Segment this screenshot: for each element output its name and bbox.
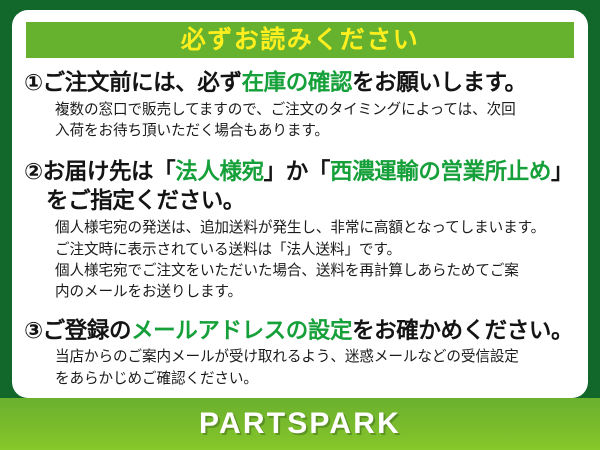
brand-footer: PARTSPARK xyxy=(0,398,600,450)
spacer-2 xyxy=(24,306,578,316)
notice-item-1-subline-2: 入荷をお待ち頂いただく場合もあります。 xyxy=(55,121,578,142)
notice-item-1-head-post: をお願いします。 xyxy=(352,70,527,95)
notice-item-2-head-accent-2: 西濃運輸の営業所止め xyxy=(330,159,551,184)
notice-item-1-head-pre: ご注文前には、必ず xyxy=(43,70,242,95)
notice-panel: 必ずお読みください ①ご注文前には、必ず在庫の確認をお願いします。 複数の窓口で… xyxy=(12,10,588,398)
notice-item-2-head-pre: お届け先は「 xyxy=(43,159,176,184)
notice-item-3-subtext: 当店からのご案内メールが受け取れるよう、迷惑メールなどの受信設定 をあらかじめご… xyxy=(24,345,578,390)
notice-item-1-head-accent: 在庫の確認 xyxy=(242,70,353,95)
notice-item-2-head-accent: 法人様宛 xyxy=(175,159,263,184)
notice-item-3-head-post: をお確かめください。 xyxy=(352,318,573,343)
notice-item-1: ①ご注文前には、必ず在庫の確認をお願いします。 複数の窓口で販売してますので、ご… xyxy=(24,68,578,143)
notice-item-2-head-mid: 」か「 xyxy=(264,159,330,184)
notice-items: ①ご注文前には、必ず在庫の確認をお願いします。 複数の窓口で販売してますので、ご… xyxy=(12,68,588,392)
notice-item-3: ③ご登録のメールアドレスの設定をお確かめください。 当店からのご案内メールが受け… xyxy=(24,316,578,391)
notice-item-2-subtext: 個人様宅宛の発送は、追加送料が発生し、非常に高額となってしまいます。 ご注文時に… xyxy=(24,216,578,303)
notice-title: 必ずお読みください xyxy=(181,28,420,53)
notice-item-1-marker: ① xyxy=(24,70,43,95)
notice-item-2-subline-1: 個人様宅宛の発送は、追加送料が発生し、非常に高額となってしまいます。 xyxy=(55,218,578,239)
notice-header-bar: 必ずお読みください xyxy=(26,22,574,58)
notice-item-2-subline-3: 個人様宅宛でご注文をいただいた場合、送料を再計算しあらためてご案 xyxy=(55,261,578,282)
notice-item-2-heading: ②お届け先は「法人様宛」か「西濃運輸の営業所止め」をご指定ください。 xyxy=(24,157,578,217)
notice-item-2-head-post: 」 xyxy=(551,159,573,184)
notice-item-3-subline-2: をあらかじめご確認ください。 xyxy=(55,369,578,390)
notice-item-1-subline-1: 複数の窓口で販売してますので、ご注文のタイミングによっては、次回 xyxy=(55,100,578,121)
notice-item-2-head-line2: をご指定ください。 xyxy=(24,186,578,216)
notice-item-3-head-accent: メールアドレスの設定 xyxy=(131,318,352,343)
notice-item-3-subline-1: 当店からのご案内メールが受け取れるよう、迷惑メールなどの受信設定 xyxy=(55,347,578,368)
spacer-1 xyxy=(24,145,578,157)
notice-item-2: ②お届け先は「法人様宛」か「西濃運輸の営業所止め」をご指定ください。 個人様宅宛… xyxy=(24,157,578,304)
notice-banner: 必ずお読みください ①ご注文前には、必ず在庫の確認をお願いします。 複数の窓口で… xyxy=(0,0,600,450)
notice-item-2-subline-4: 内のメールをお送りします。 xyxy=(55,282,578,303)
notice-item-3-marker: ③ xyxy=(24,318,43,343)
notice-item-1-heading: ①ご注文前には、必ず在庫の確認をお願いします。 xyxy=(24,68,578,98)
notice-item-1-subtext: 複数の窓口で販売してますので、ご注文のタイミングによっては、次回 入荷をお待ち頂… xyxy=(24,98,578,143)
notice-item-3-head-pre: ご登録の xyxy=(43,318,131,343)
notice-item-3-heading: ③ご登録のメールアドレスの設定をお確かめください。 xyxy=(24,316,578,346)
brand-name: PARTSPARK xyxy=(199,409,401,439)
notice-item-2-subline-2: ご注文時に表示されている送料は「法人送料」です。 xyxy=(55,240,578,261)
notice-item-2-marker: ② xyxy=(24,159,43,184)
